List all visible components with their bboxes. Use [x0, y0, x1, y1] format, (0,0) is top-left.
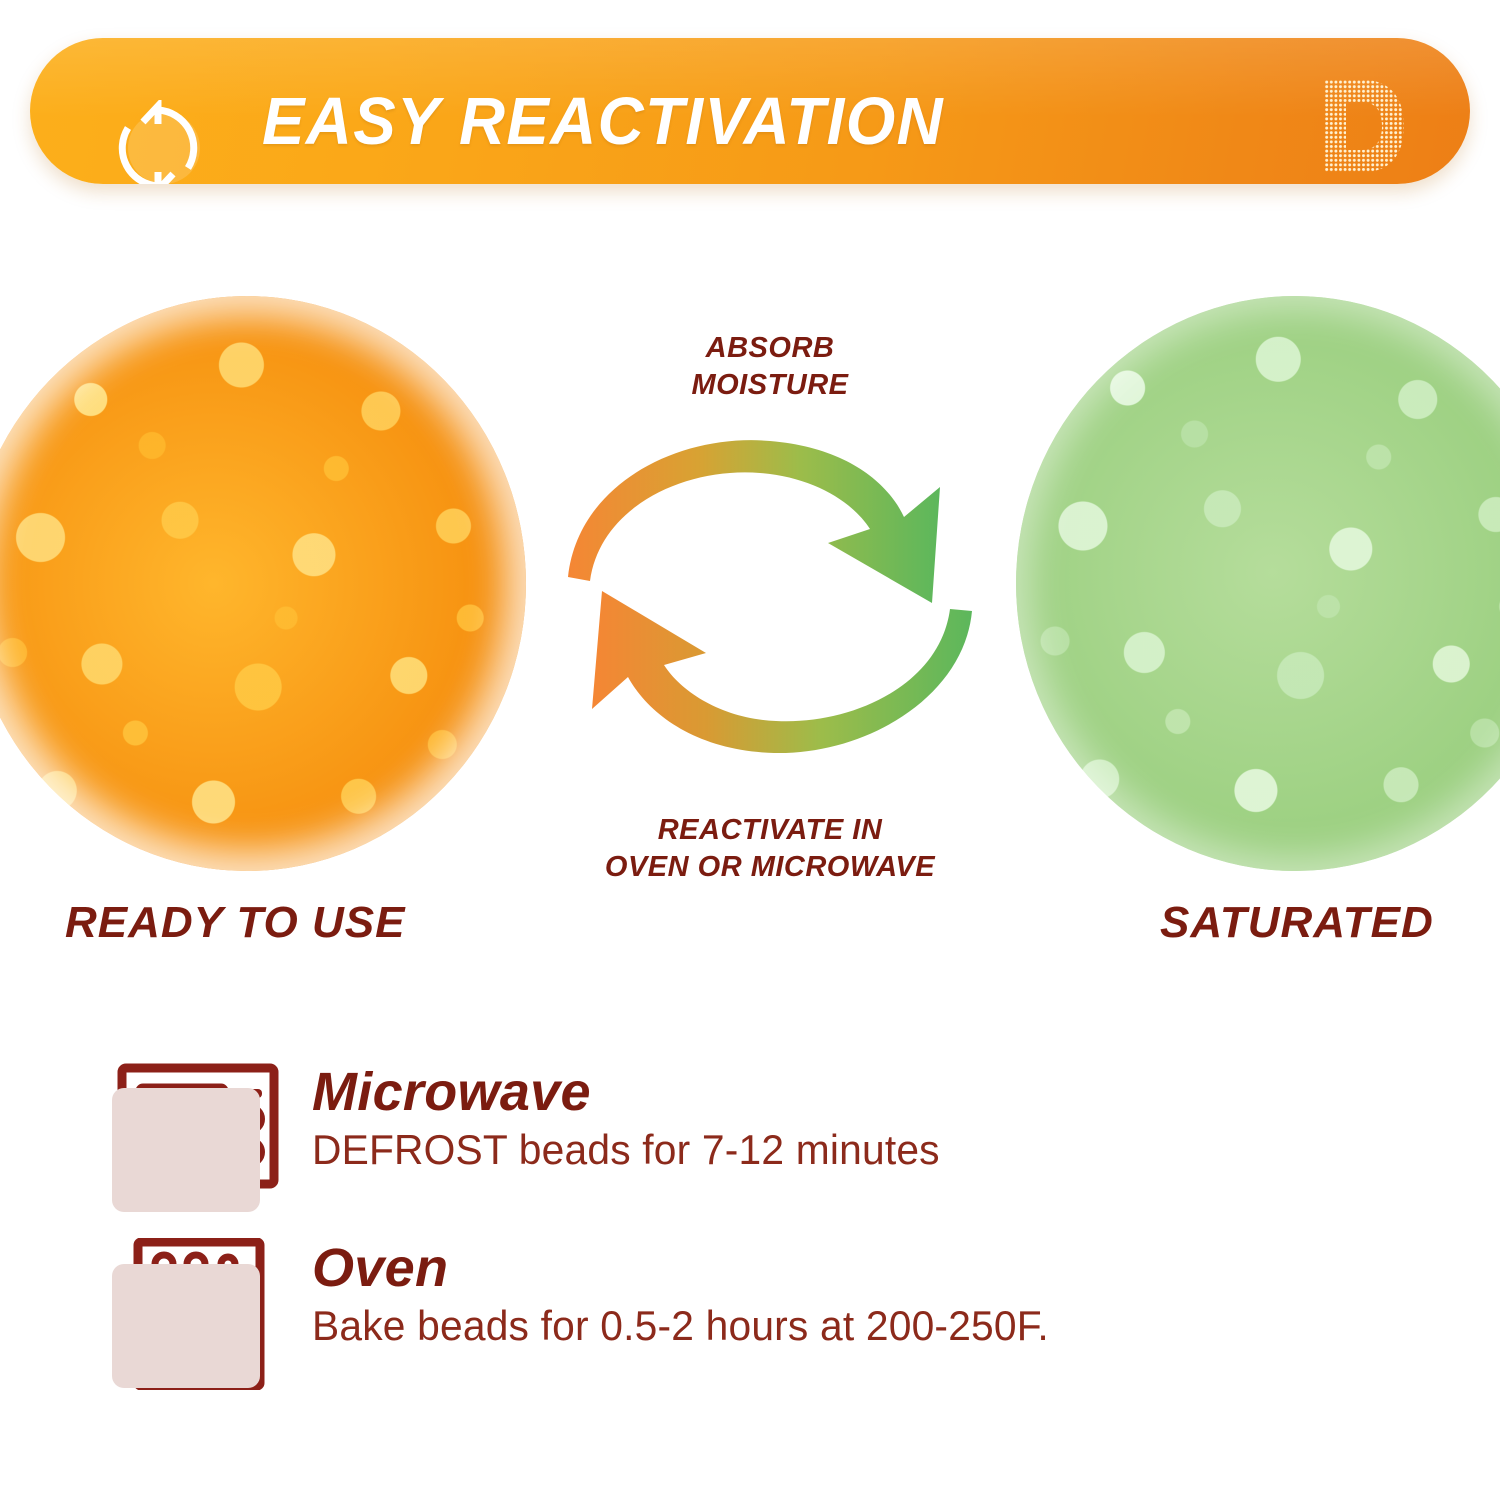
instruction-row-microwave: Microwave DEFROST beads for 7-12 minutes [108, 1062, 959, 1214]
oven-detail: Bake beads for 0.5-2 hours at 200-250F. [312, 1303, 1049, 1349]
microwave-heading: Microwave [312, 1064, 959, 1121]
right-state-label: SATURATED [1160, 898, 1434, 948]
oven-heading: Oven [312, 1240, 1072, 1297]
oven-text-block: Oven Bake beads for 0.5-2 hours at 200-2… [304, 1238, 1072, 1349]
absorb-arrow-right-icon [568, 440, 940, 603]
microwave-detail: DEFROST beads for 7-12 minutes [312, 1127, 940, 1173]
absorb-label-line1: ABSORB [560, 330, 980, 367]
page-title: EASY REACTIVATION [262, 88, 944, 155]
green-circle-vignette [1016, 296, 1500, 871]
instruction-row-oven: Oven Bake beads for 0.5-2 hours at 200-2… [108, 1238, 1072, 1390]
reactivate-label-line1: REACTIVATE IN [540, 812, 1000, 849]
moisture-cycle-diagram: ABSORB MOISTURE [560, 330, 980, 890]
microwave-icon-shadow [112, 1088, 260, 1212]
cycle-arrows [560, 425, 980, 775]
header-banner: EASY REACTIVATION [30, 38, 1470, 184]
oven-icon-wrap [108, 1238, 304, 1390]
reactivate-arrow-left-icon [592, 591, 972, 753]
microwave-text-block: Microwave DEFROST beads for 7-12 minutes [304, 1062, 959, 1173]
reactivate-label: REACTIVATE IN OVEN OR MICROWAVE [540, 812, 1000, 886]
orange-beads-photo [0, 296, 526, 871]
brand-logo-d-icon [1316, 76, 1408, 176]
absorb-moisture-label: ABSORB MOISTURE [560, 330, 980, 404]
absorb-label-line2: MOISTURE [560, 367, 980, 404]
green-beads-photo [1016, 296, 1500, 871]
reactivate-label-line2: OVEN OR MICROWAVE [540, 849, 1000, 886]
microwave-icon-wrap [108, 1062, 304, 1214]
refresh-cycle-icon [110, 100, 206, 184]
orange-circle-vignette [0, 296, 526, 871]
infographic-page: EASY REACTIVATION READY TO USE SATURATED… [0, 0, 1500, 1500]
left-state-label: READY TO USE [65, 898, 405, 948]
oven-icon-shadow [112, 1264, 260, 1388]
